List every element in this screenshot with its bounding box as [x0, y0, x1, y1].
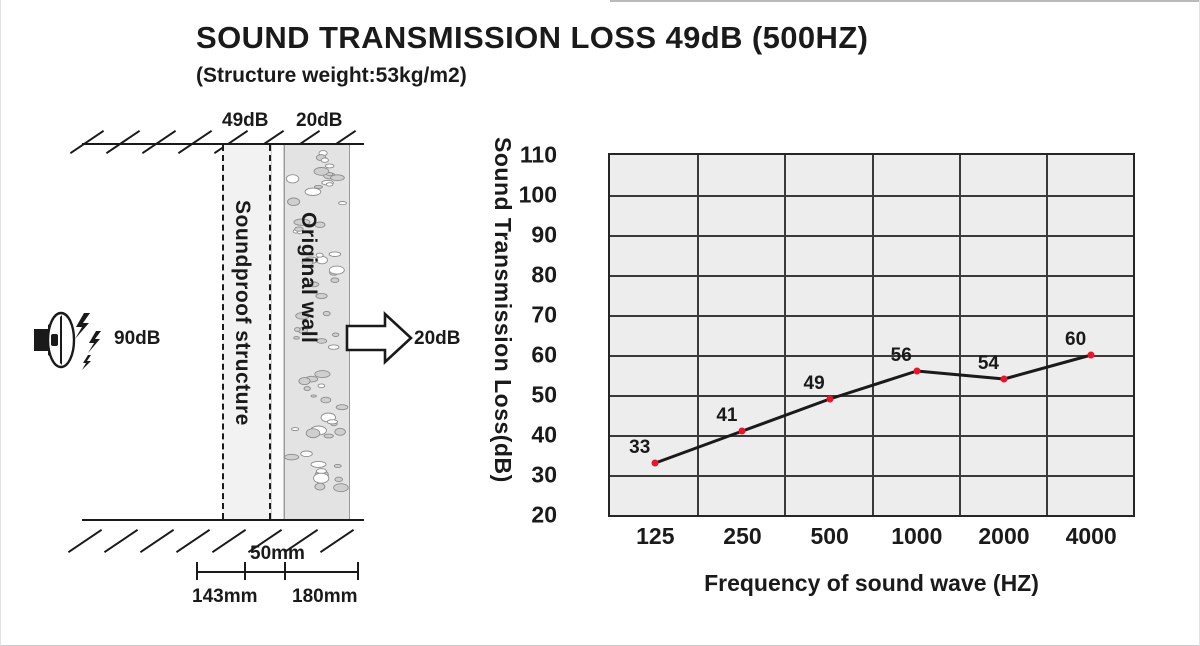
- data-point-label: 33: [629, 437, 650, 459]
- speaker-icon: [28, 305, 118, 375]
- hatch-tick: [68, 529, 102, 553]
- x-axis-tick-label: 2000: [959, 523, 1049, 550]
- y-axis-tick-label: 70: [487, 302, 557, 329]
- dimension-line: [196, 571, 359, 573]
- hatch-tick: [140, 529, 174, 553]
- y-axis-tick-label: 60: [487, 342, 557, 369]
- data-point-label: 60: [1065, 329, 1086, 351]
- y-axis-tick-label: 110: [487, 142, 557, 169]
- plot-area: 334149565460: [608, 153, 1135, 517]
- data-point-label: 56: [891, 345, 912, 367]
- soundproof-layer-label: Soundproof structure: [230, 200, 254, 426]
- x-axis-tick-label: 250: [697, 523, 787, 550]
- soundproof-db-label: 49dB: [222, 110, 268, 132]
- y-axis-tick-label: 40: [487, 422, 557, 449]
- output-db-label: 20dB: [414, 328, 460, 350]
- hatch-tick: [176, 529, 210, 553]
- data-point: [913, 368, 920, 375]
- air-gap-layer: [271, 145, 284, 519]
- y-axis-tick-label: 100: [487, 182, 557, 209]
- data-point: [1000, 376, 1007, 383]
- gap-dimension-label: 50mm: [250, 543, 305, 565]
- y-axis-tick-label: 90: [487, 222, 557, 249]
- hatch-tick: [104, 529, 138, 553]
- wall-section-diagram: 49dB 20dB Soundproof structure Original …: [0, 0, 500, 646]
- x-axis-tick-label: 500: [785, 523, 875, 550]
- x-axis-tick-label: 1000: [872, 523, 962, 550]
- data-point: [1088, 352, 1095, 359]
- data-point: [739, 428, 746, 435]
- y-axis-tick-label: 80: [487, 262, 557, 289]
- hatch-tick: [178, 130, 212, 154]
- x-axis-label: Frequency of sound wave (HZ): [608, 570, 1135, 597]
- data-point: [652, 460, 659, 467]
- y-axis-tick-label: 20: [487, 502, 557, 529]
- hatch-tick: [70, 130, 104, 154]
- dimension-tick: [244, 562, 246, 580]
- transmission-loss-chart: Sound Transmission Loss(dB) 110100908070…: [500, 0, 1200, 646]
- wall-dimension-label: 180mm: [292, 586, 358, 608]
- hatch-tick: [212, 529, 246, 553]
- source-db-label: 90dB: [114, 328, 160, 350]
- floor-line: [82, 519, 364, 521]
- hatch-tick: [320, 529, 354, 553]
- dimension-tick: [357, 562, 359, 580]
- y-axis-tick-label: 50: [487, 382, 557, 409]
- data-point-label: 54: [978, 353, 999, 375]
- data-series-line: [610, 155, 1133, 515]
- dimension-tick: [196, 562, 198, 580]
- dimension-tick: [284, 562, 286, 580]
- hatch-tick: [142, 130, 176, 154]
- data-point-label: 41: [716, 405, 737, 427]
- x-axis-tick-label: 4000: [1046, 523, 1136, 550]
- hatch-tick: [106, 130, 140, 154]
- transmission-arrow-icon: [345, 310, 415, 366]
- x-axis-tick-label: 125: [610, 523, 700, 550]
- wall-db-label: 20dB: [296, 110, 342, 132]
- soundproof-dimension-label: 143mm: [192, 586, 258, 608]
- original-wall-label: Original wall: [296, 212, 320, 343]
- data-point: [826, 396, 833, 403]
- data-point-label: 49: [804, 373, 825, 395]
- y-axis-tick-label: 30: [487, 462, 557, 489]
